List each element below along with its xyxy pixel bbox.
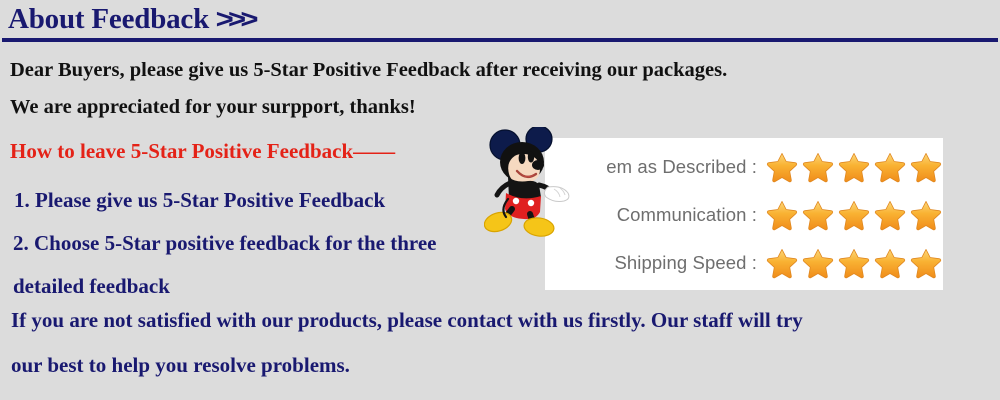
- rating-row-item-as-described: em as Described :: [545, 144, 943, 190]
- star-icon: [837, 150, 871, 184]
- star-icon: [765, 198, 799, 232]
- star-rating-shipping-speed: [765, 246, 943, 280]
- star-icon: [873, 150, 907, 184]
- line-support-1: If you are not satisfied with our produc…: [11, 310, 803, 331]
- star-rating-item-as-described: [765, 150, 943, 184]
- star-icon: [837, 246, 871, 280]
- line-step-2: 2. Choose 5-Star positive feedback for t…: [13, 233, 436, 254]
- page-title: About Feedback>>>: [8, 2, 250, 36]
- star-icon: [765, 246, 799, 280]
- line-howto-heading: How to leave 5-Star Positive Feedback——: [10, 141, 395, 162]
- line-support-2: our best to help you resolve problems.: [11, 355, 350, 376]
- star-icon: [909, 198, 943, 232]
- chevrons-icon: >>>: [216, 2, 253, 36]
- rating-row-shipping-speed: Shipping Speed :: [545, 240, 943, 286]
- star-icon: [801, 150, 835, 184]
- header-divider: [2, 38, 998, 42]
- star-icon: [765, 150, 799, 184]
- line-step-1: 1. Please give us 5-Star Positive Feedba…: [14, 190, 385, 211]
- star-icon: [909, 150, 943, 184]
- star-icon: [801, 246, 835, 280]
- feedback-banner: About Feedback>>> Dear Buyers, please gi…: [0, 0, 1000, 400]
- rating-label-shipping-speed: Shipping Speed :: [545, 252, 765, 274]
- detailed-seller-ratings-panel: em as Described : Communication : Shippi…: [545, 138, 943, 290]
- star-icon: [873, 246, 907, 280]
- page-title-text: About Feedback: [8, 3, 209, 35]
- line-step-2-continued: detailed feedback: [13, 276, 170, 297]
- star-icon: [801, 198, 835, 232]
- star-icon: [837, 198, 871, 232]
- line-thanks: We are appreciated for your surpport, th…: [10, 97, 416, 118]
- star-icon: [873, 198, 907, 232]
- rating-row-communication: Communication :: [545, 192, 943, 238]
- line-greeting: Dear Buyers, please give us 5-Star Posit…: [10, 60, 727, 81]
- star-icon: [909, 246, 943, 280]
- star-rating-communication: [765, 198, 943, 232]
- mickey-mouse-icon: [484, 127, 580, 237]
